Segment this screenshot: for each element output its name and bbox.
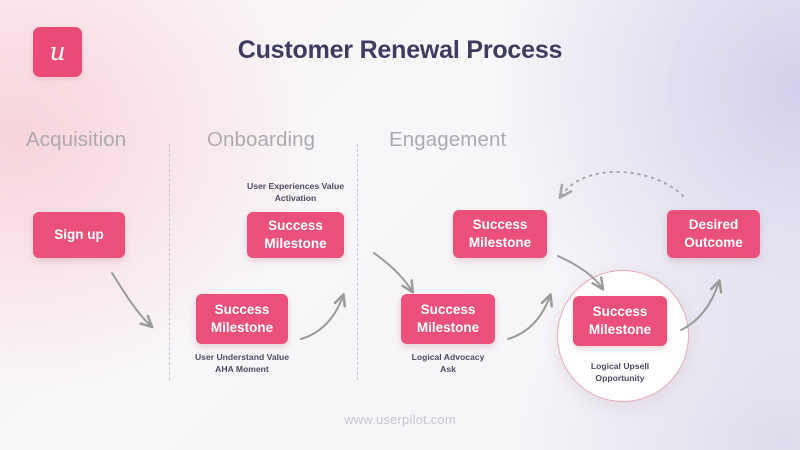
caption-line-2: Activation — [275, 193, 317, 203]
page-title: Customer Renewal Process — [0, 36, 800, 65]
caption-line-2: Ask — [440, 364, 456, 374]
caption-onboarding-bottom: User Understand Value AHA Moment — [176, 351, 308, 376]
node-label-line-2: Milestone — [264, 235, 326, 253]
stage-divider-2 — [357, 144, 358, 380]
arrow-signup-to-onboarding — [112, 273, 151, 326]
caption-line-2: Opportunity — [595, 373, 644, 383]
node-onboarding-aha-moment[interactable]: Success Milestone — [196, 294, 288, 344]
arrow-engagement-bottom-to-top — [508, 296, 550, 339]
node-label-line-2: Milestone — [469, 234, 531, 252]
caption-line-1: Logical Upsell — [591, 361, 649, 371]
node-onboarding-activation[interactable]: Success Milestone — [247, 212, 344, 258]
arrow-onboarding-bottom-to-top — [301, 296, 343, 339]
node-sign-up[interactable]: Sign up — [33, 212, 125, 258]
node-label-line-1: Success — [473, 216, 528, 234]
arrow-onboarding-to-engagement — [374, 253, 412, 291]
node-label-line-2: Milestone — [589, 321, 651, 339]
footer-url[interactable]: www.userpilot.com — [0, 412, 800, 427]
caption-upsell-circle: Logical Upsell Opportunity — [573, 360, 667, 385]
caption-onboarding-top: User Experiences Value Activation — [247, 180, 344, 205]
node-label-line-1: Success — [215, 301, 270, 319]
node-desired-outcome[interactable]: Desired Outcome — [667, 210, 760, 258]
node-upsell-opportunity[interactable]: Success Milestone — [573, 296, 667, 346]
arrow-renewal-loopback — [561, 172, 683, 196]
node-label-line-1: Success — [593, 303, 648, 321]
stage-divider-1 — [169, 144, 170, 380]
node-label-line-1: Success — [421, 301, 476, 319]
node-engagement-top[interactable]: Success Milestone — [453, 210, 547, 258]
node-label-line-2: Outcome — [684, 234, 743, 252]
caption-line-1: Logical Advocacy — [412, 352, 485, 362]
node-engagement-advocacy[interactable]: Success Milestone — [401, 294, 495, 344]
stage-label-onboarding: Onboarding — [207, 128, 315, 152]
node-label-line-2: Milestone — [211, 319, 273, 337]
stage-label-engagement: Engagement — [389, 128, 506, 152]
node-label-line-2: Milestone — [417, 319, 479, 337]
caption-engagement-bottom: Logical Advocacy Ask — [385, 351, 511, 376]
caption-line-1: User Experiences Value — [247, 181, 344, 191]
diagram-canvas: u Customer Renewal Process Acquisition O… — [0, 0, 800, 450]
caption-line-2: AHA Moment — [215, 364, 269, 374]
stage-label-acquisition: Acquisition — [26, 128, 126, 152]
node-label-line-1: Sign up — [54, 226, 104, 244]
caption-line-1: User Understand Value — [195, 352, 289, 362]
node-label-line-1: Desired — [689, 216, 739, 234]
node-label-line-1: Success — [268, 217, 323, 235]
